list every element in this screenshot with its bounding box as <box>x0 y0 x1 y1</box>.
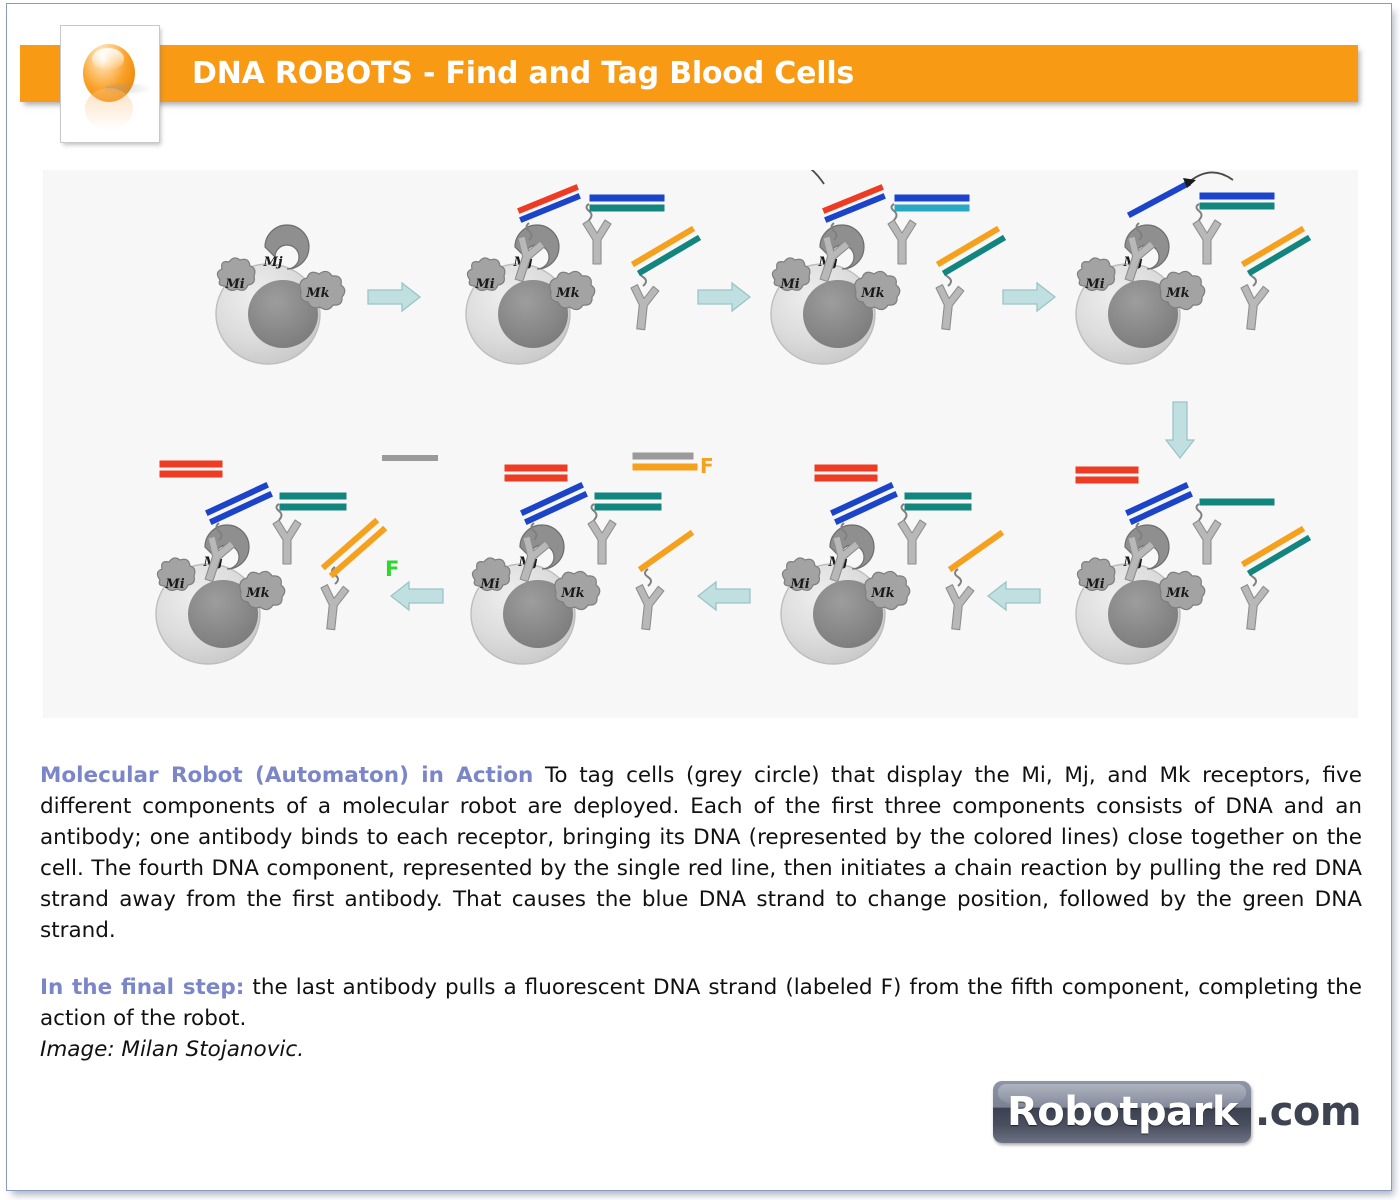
orb-highlight-icon <box>92 48 124 70</box>
caption-paragraph-1: Molecular Robot (Automaton) in Action To… <box>40 760 1362 946</box>
step-3-red-strand-approaches <box>771 170 1002 364</box>
dna-robot-process-diagram: Mi Mj Mk <box>43 170 1358 718</box>
caption-paragraph-2: In the final step: the last antibody pul… <box>40 972 1362 1034</box>
arrow-step2-to-step3 <box>698 283 750 311</box>
step-5-blue-repositioned <box>1076 470 1307 664</box>
arrow-step3-to-step4 <box>1003 283 1055 311</box>
arrow-step7-to-step8 <box>391 582 443 610</box>
arrow-step4-to-step5 <box>1166 402 1194 458</box>
step-8-robot-complete-tagged: F <box>156 458 435 664</box>
page-root: DNA ROBOTS - Find and Tag Blood Cells <box>0 0 1400 1200</box>
step-4-red-duplex-released <box>1076 170 1307 364</box>
robotpark-logo[interactable]: Robotpark .com <box>993 1077 1363 1147</box>
image-credit: Image: Milan Stojanovic. <box>40 1034 1362 1065</box>
robotpark-tld: .com <box>1255 1081 1361 1143</box>
arrow-step6-to-step7 <box>698 582 750 610</box>
fluorescent-label-f-component: F <box>700 454 714 478</box>
orb-reflection-icon <box>85 88 133 130</box>
caption-body-1: To tag cells (grey circle) that display … <box>40 763 1362 943</box>
robotpark-wordmark: Robotpark <box>1007 1081 1251 1143</box>
arrow-step1-to-step2 <box>368 283 420 311</box>
figure-caption: Molecular Robot (Automaton) in Action To… <box>40 760 1362 1065</box>
fluorescent-label-f-final: F <box>385 557 399 581</box>
step-2-components-bound <box>466 188 697 364</box>
caption-lead-1: Molecular Robot (Automaton) in Action <box>40 763 533 788</box>
page-header: DNA ROBOTS - Find and Tag Blood Cells <box>20 45 1358 102</box>
caption-lead-2: In the final step: <box>40 975 244 1000</box>
site-logo-tile[interactable] <box>60 25 160 143</box>
step-6-green-displaced <box>781 468 1000 664</box>
arrow-step5-to-step6 <box>988 582 1040 610</box>
step-1-bare-cell <box>216 225 345 364</box>
figure-panel: Mi Mj Mk <box>43 170 1358 718</box>
page-title: DNA ROBOTS - Find and Tag Blood Cells <box>192 45 854 102</box>
step-7-fluorescent-component-arrives: F <box>471 454 714 664</box>
